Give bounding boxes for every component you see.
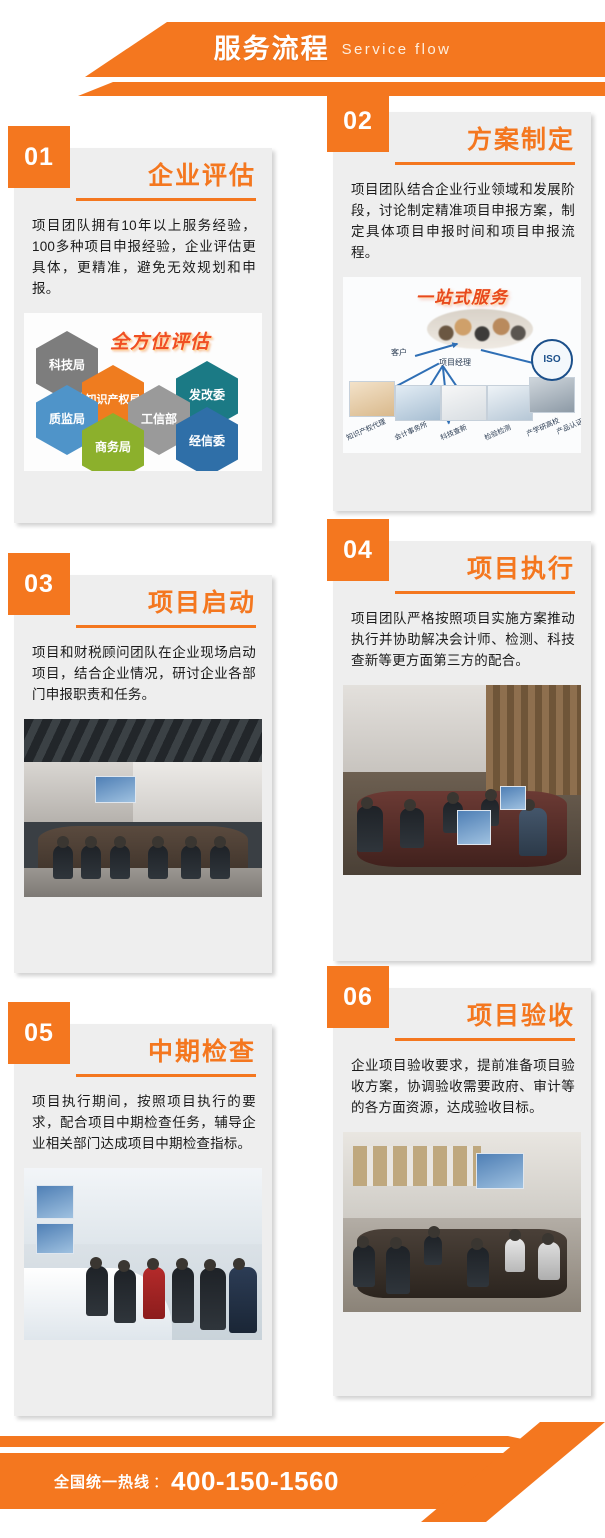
- photo-laptop: [500, 786, 526, 811]
- photo-person: [53, 845, 73, 879]
- photo-ceiling: [24, 719, 262, 765]
- photo-person: [505, 1238, 525, 1272]
- step-card-02[interactable]: 02 方案制定 项目团队结合企业行业领域和发展阶段，讨论制定精准项目申报方案，制…: [333, 112, 591, 511]
- step-description: 项目团队严格按照项目实施方案推动执行并协助解决会计师、检测、科技查新等更方面第三…: [333, 594, 591, 685]
- hexagon-graphic-title: 全方位评估: [110, 327, 210, 354]
- service-node-ip: [349, 381, 395, 417]
- photo-wall-right: [133, 762, 262, 823]
- photo-person: [353, 1245, 375, 1287]
- hotline-number[interactable]: 400-150-1560: [171, 1466, 339, 1497]
- photo-laptop: [457, 810, 490, 844]
- page-footer: 全国统一热线 ： 400-150-1560: [0, 1422, 605, 1538]
- photo-person: [229, 1267, 257, 1333]
- photo-person: [210, 845, 230, 879]
- photo-person: [519, 808, 547, 856]
- flow-arrow: [415, 343, 458, 357]
- photo-certificate-wall: [353, 1146, 482, 1186]
- photo-person: [386, 1246, 410, 1294]
- photo-person: [172, 1267, 194, 1323]
- service-label-accounting: 会计事务所: [393, 420, 429, 443]
- one-stop-client-label: 客户: [391, 347, 407, 358]
- step-description: 项目和财税顾问团队在企业现场启动项目，结合企业情况，研讨企业各部门申报职责和任务…: [14, 628, 272, 719]
- photo-curtain: [486, 685, 581, 795]
- photo-person: [81, 845, 101, 879]
- service-label-testing: 检验检测: [483, 422, 513, 443]
- photo-person: [86, 1266, 108, 1316]
- step-description: 项目团队结合企业行业领域和发展阶段，讨论制定精准项目申报方案，制定具体项目申报时…: [333, 165, 591, 277]
- photo-projection-screen: [476, 1153, 524, 1189]
- photo-acceptance-meeting: [343, 1132, 581, 1312]
- header-orange-stripe: [0, 82, 605, 96]
- service-node-testing: [487, 385, 533, 421]
- service-node-university: [529, 377, 575, 413]
- page-title: 服务流程: [214, 36, 330, 63]
- photo-person: [110, 845, 130, 879]
- page-subtitle: Service flow: [342, 42, 452, 57]
- step-description: 项目团队拥有10年以上服务经验，100多种项目申报经验，企业评估更具体，更精准，…: [14, 201, 272, 313]
- hexagon-assessment-graphic: 全方位评估 科技局 知识产权局 发改委 质监局 工信部 商务局 经信委: [24, 313, 262, 471]
- photo-person: [400, 808, 424, 848]
- step-description: 企业项目验收要求，提前准备项目验收方案，协调验收需要政府、审计等的各方面资源，达…: [333, 1041, 591, 1132]
- photo-person: [467, 1247, 489, 1287]
- service-label-ip: 知识产权代理: [345, 417, 387, 443]
- step-card-03[interactable]: 03 项目启动 项目和财税顾问团队在企业现场启动项目，结合企业情况，研讨企业各部…: [14, 575, 272, 973]
- service-node-research: [441, 385, 487, 421]
- one-stop-service-graphic: 一站式服务 客户 项目经理 ISO 知识产权代理 会计事务所 科技查新 检验检测…: [343, 277, 581, 453]
- step-number-badge: 04: [327, 519, 389, 581]
- step-card-06[interactable]: 06 项目验收 企业项目验收要求，提前准备项目验收方案，协调验收需要政府、审计等…: [333, 988, 591, 1396]
- step-card-01[interactable]: 01 企业评估 项目团队拥有10年以上服务经验，100多种项目申报经验，企业评估…: [14, 148, 272, 523]
- step-number-badge: 03: [8, 553, 70, 615]
- one-stop-title: 一站式服务: [343, 283, 581, 308]
- photo-person: [424, 1235, 442, 1265]
- photo-display-screen: [36, 1223, 74, 1254]
- header-title-group: 服务流程 Service flow: [0, 22, 605, 77]
- one-stop-manager-label: 项目经理: [439, 357, 471, 368]
- footer-hotline-group: 全国统一热线 ： 400-150-1560: [0, 1453, 460, 1509]
- photo-person: [538, 1242, 560, 1280]
- page-header: 服务流程 Service flow: [0, 0, 605, 112]
- step-number-badge: 01: [8, 126, 70, 188]
- step-description: 项目执行期间，按照项目执行的要求，配合项目中期检查任务，辅导企业相关部门达成项目…: [14, 1077, 272, 1168]
- step-card-04[interactable]: 04 项目执行 项目团队严格按照项目实施方案推动执行并协助解决会计师、检测、科技…: [333, 541, 591, 961]
- photo-whiteboard: [95, 776, 135, 803]
- photo-person: [357, 806, 383, 852]
- hotline-colon: ：: [153, 1471, 168, 1492]
- step-card-05[interactable]: 05 中期检查 项目执行期间，按照项目执行的要求，配合项目中期检查任务，辅导企业…: [14, 1024, 272, 1416]
- photo-meeting-room: [24, 719, 262, 897]
- service-flow-infographic: 服务流程 Service flow 01 企业评估 项目团队拥有10年以上服务经…: [0, 0, 605, 1538]
- hotline-label: 全国统一热线: [54, 1471, 150, 1492]
- photo-working-session: [343, 685, 581, 875]
- photo-site-visit: [24, 1168, 262, 1340]
- step-number-badge: 02: [327, 90, 389, 152]
- photo-person: [114, 1269, 136, 1323]
- meeting-photo-thumb: [427, 309, 533, 349]
- service-node-accounting: [395, 385, 441, 421]
- service-label-research: 科技查新: [439, 422, 469, 443]
- iso-seal-icon: ISO: [531, 339, 573, 381]
- photo-display-screen: [36, 1185, 74, 1219]
- photo-person: [181, 845, 201, 879]
- photo-person: [200, 1268, 226, 1330]
- photo-person: [148, 845, 168, 879]
- step-number-badge: 06: [327, 966, 389, 1028]
- step-number-badge: 05: [8, 1002, 70, 1064]
- photo-person-red-coat: [143, 1267, 165, 1319]
